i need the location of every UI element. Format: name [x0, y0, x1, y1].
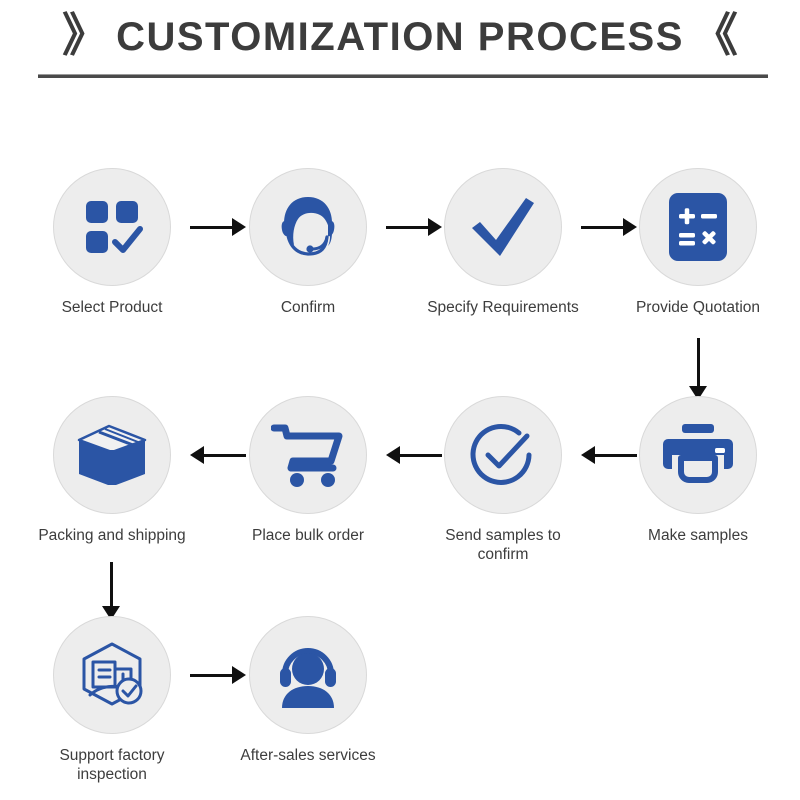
step-label: Make samples — [648, 526, 748, 545]
step-icon-circle — [444, 168, 562, 286]
step-label: Packing and shipping — [38, 526, 185, 545]
step-icon-circle — [53, 168, 171, 286]
package-box-icon — [75, 420, 149, 490]
arrow-down-row1-row2 — [687, 338, 709, 400]
title-divider — [38, 74, 768, 78]
flow-step-place-bulk-order[interactable]: Place bulk order — [228, 396, 388, 545]
flow-step-provide-quotation[interactable]: Provide Quotation — [618, 168, 778, 317]
step-icon-circle — [249, 616, 367, 734]
step-label: Select Product — [62, 298, 163, 317]
page-header: 》 CUSTOMIZATION PROCESS 《 — [0, 0, 800, 92]
customer-support-icon — [272, 642, 344, 708]
step-icon-circle — [249, 396, 367, 514]
flow-step-make-samples[interactable]: Make samples — [618, 396, 778, 545]
step-icon-circle — [53, 616, 171, 734]
chevron-right-icon: 《 — [692, 12, 738, 58]
step-icon-circle — [639, 168, 757, 286]
step-icon-circle — [53, 396, 171, 514]
step-icon-circle — [249, 168, 367, 286]
flow-step-after-sales-services[interactable]: After-sales services — [228, 616, 388, 765]
chevron-left-icon: 》 — [62, 12, 108, 58]
step-label: Support factory inspection — [59, 746, 164, 785]
factory-inspection-icon — [76, 640, 148, 710]
step-label: Place bulk order — [252, 526, 364, 545]
calculator-icon — [667, 191, 729, 263]
grid-check-icon — [80, 195, 144, 259]
step-label: Confirm — [281, 298, 335, 317]
flow-step-packing-and-shipping[interactable]: Packing and shipping — [32, 396, 192, 545]
step-label: Provide Quotation — [636, 298, 760, 317]
headset-agent-icon — [272, 191, 344, 263]
arrow-down-row2-row3 — [100, 562, 122, 620]
step-icon-circle — [444, 396, 562, 514]
page-title: CUSTOMIZATION PROCESS — [116, 17, 684, 57]
flow-step-select-product[interactable]: Select Product — [32, 168, 192, 317]
flow-step-send-samples-to-confirm[interactable]: Send samples to confirm — [423, 396, 583, 565]
printer-icon — [663, 422, 733, 488]
step-label: Specify Requirements — [427, 298, 579, 317]
step-label: Send samples to confirm — [423, 526, 583, 565]
flow-step-specify-requirements[interactable]: Specify Requirements — [423, 168, 583, 317]
step-icon-circle — [639, 396, 757, 514]
shopping-cart-icon — [271, 421, 345, 489]
flow-step-confirm[interactable]: Confirm — [228, 168, 388, 317]
title-row: 》 CUSTOMIZATION PROCESS 《 — [0, 8, 800, 66]
checkmark-icon — [466, 190, 540, 264]
flow-step-support-factory-inspection[interactable]: Support factory inspection — [32, 616, 192, 785]
circle-check-icon — [467, 419, 539, 491]
step-label: After-sales services — [240, 746, 375, 765]
